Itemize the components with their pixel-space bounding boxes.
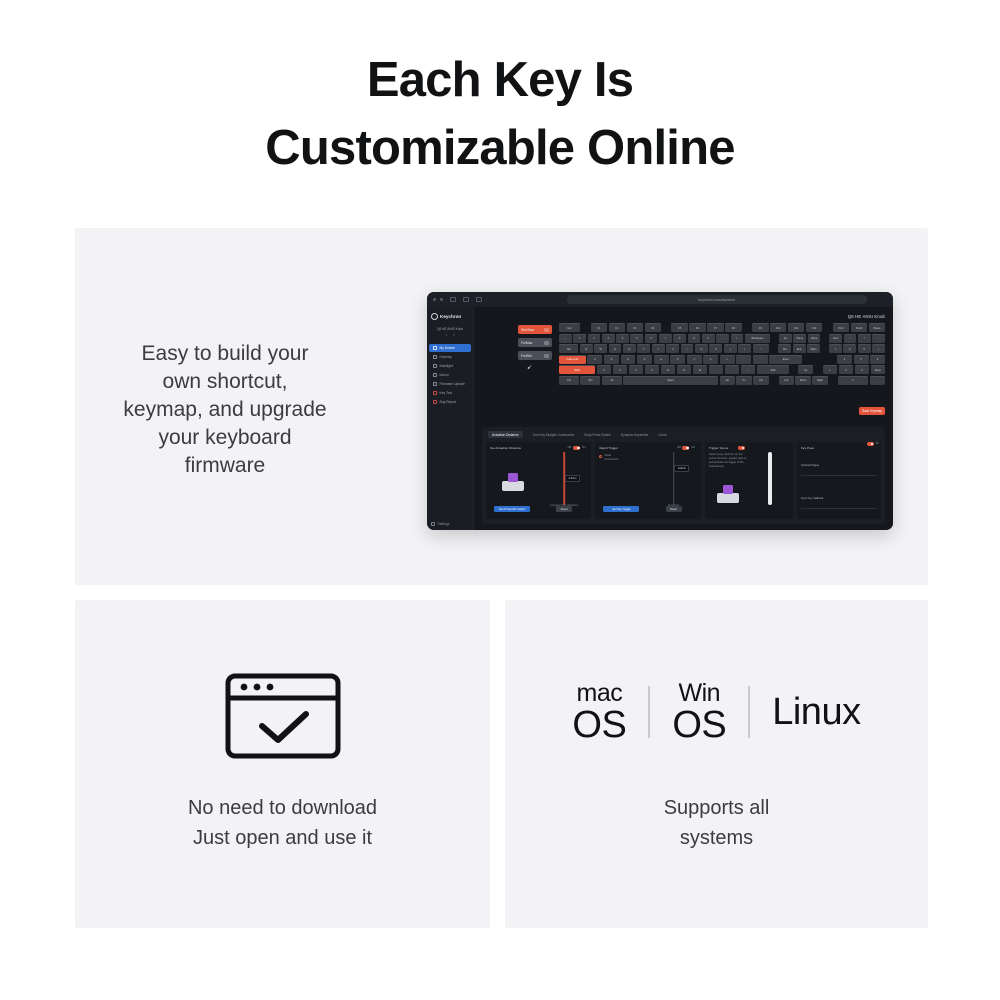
- key[interactable]: Home: [793, 334, 806, 343]
- app-sidebar: Keychron Q6 HE ANSI Knob 1 2 My Device K…: [427, 307, 474, 530]
- sidebar-item-label: My Device: [440, 346, 455, 350]
- gear-icon: [431, 522, 435, 526]
- no-download-caption: No need to download Just open and use it: [75, 793, 490, 853]
- rapid-trigger-slider-area: Off On 0.2mm Sensitivity Reset: [650, 446, 697, 515]
- key[interactable]: G: [654, 355, 669, 364]
- rapid-trigger-reset-button[interactable]: Reset: [666, 506, 682, 512]
- sidebar-item-keymap[interactable]: Keymap: [429, 353, 471, 361]
- keyboard-row: Tab Q W E R T Y U I O P [ ] \ Del End: [559, 344, 885, 353]
- supports-all-systems-caption: Supports all systems: [505, 793, 928, 853]
- toggle-off-label: Off: [568, 446, 571, 449]
- key[interactable]: 0: [838, 376, 869, 385]
- key[interactable]: S: [604, 355, 619, 364]
- key[interactable]: 6: [645, 334, 658, 343]
- key[interactable]: 7: [659, 334, 672, 343]
- key[interactable]: F: [637, 355, 652, 364]
- key[interactable]: V: [645, 365, 659, 374]
- os-logo-winos: Win OS: [672, 681, 726, 744]
- key[interactable]: ~: [559, 334, 572, 343]
- key[interactable]: Tab: [559, 344, 578, 353]
- key[interactable]: L: [720, 355, 735, 364]
- key[interactable]: U: [666, 344, 679, 353]
- cursor-pointer-icon: ➹: [527, 364, 552, 371]
- key-spacer: [820, 355, 827, 364]
- app-main: Q6 HE ANSI Knob Win/Mac Fn/Mac Fn/Win ➹ …: [474, 307, 893, 530]
- os-logo-winos-suffix: OS: [672, 706, 726, 744]
- toggle-off-label: Off: [677, 446, 680, 449]
- key[interactable]: Backspace: [745, 334, 770, 343]
- macro-icon: [433, 373, 437, 377]
- browser-titlebar: keychron.com/launcher: [427, 292, 893, 307]
- layer-button-label: Win/Mac: [521, 328, 534, 332]
- os-logo-macos-suffix: OS: [572, 706, 626, 744]
- key[interactable]: T: [637, 344, 650, 353]
- sidebar-nav: My Device Keymap Backlight Macro Firmwar…: [427, 344, 473, 406]
- key[interactable]: Ctrl: [559, 376, 579, 385]
- key[interactable]: K: [703, 355, 718, 364]
- key[interactable]: 5: [854, 355, 869, 364]
- sidebar-item-key-test[interactable]: Key Test: [429, 389, 471, 397]
- launcher-description-line-3: keymap, and upgrade: [90, 396, 360, 424]
- key[interactable]: Fn: [736, 376, 751, 385]
- sidebar-item-label: Bug Report: [440, 400, 457, 404]
- key[interactable]: Pause: [869, 323, 885, 332]
- key[interactable]: 3: [855, 365, 869, 374]
- os-divider: [748, 686, 750, 738]
- supports-caption-line-1: Supports all: [505, 793, 928, 823]
- no-download-caption-line-2: Just open and use it: [75, 823, 490, 853]
- set-all-specific-switch-button[interactable]: Set All Specific Switch: [494, 506, 530, 512]
- switch-stem: [508, 473, 518, 482]
- sidebar-item-label: Key Test: [440, 391, 453, 395]
- window-dot-icon: [433, 298, 436, 301]
- key[interactable]: Ins: [779, 334, 792, 343]
- key[interactable]: =: [731, 334, 744, 343]
- keyboard-row: Caps Lock A S D F G H J K L ; ' Enter: [559, 355, 885, 364]
- switch-render-image: [717, 485, 739, 503]
- key-shift-left[interactable]: Shift: [559, 365, 595, 374]
- sidebar-item-settings[interactable]: Settings: [429, 522, 449, 526]
- key[interactable]: F8: [725, 323, 741, 332]
- key[interactable]: Print: [833, 323, 849, 332]
- actuation-toggle[interactable]: Off On: [568, 446, 586, 450]
- key-arrow-left[interactable]: Left: [779, 376, 794, 385]
- keyboard-row: Esc F1 F2 F3 F4 F5 F6 F7 F8 F9 F10 F11 F…: [559, 323, 885, 332]
- key[interactable]: *: [858, 334, 871, 343]
- layer-button-label: Fn/Win: [521, 354, 532, 358]
- settings-panel: Actuation Distance One Key Multiple Comm…: [482, 427, 885, 524]
- key[interactable]: ': [753, 355, 768, 364]
- key[interactable]: 2: [588, 334, 601, 343]
- key[interactable]: F3: [627, 323, 643, 332]
- sidebar-item-label: Macro: [440, 373, 449, 377]
- key[interactable]: \: [753, 344, 770, 353]
- key-arrow-down[interactable]: Down: [795, 376, 810, 385]
- address-bar[interactable]: keychron.com/launcher: [567, 295, 867, 304]
- layer-button-win-mac[interactable]: Win/Mac: [518, 325, 552, 334]
- sidebar-item-macro[interactable]: Macro: [429, 371, 471, 379]
- connected-device-indicators: 1 2: [432, 333, 468, 338]
- feature-card-supports-all-systems: [505, 600, 928, 928]
- key[interactable]: -: [716, 334, 729, 343]
- key-enter[interactable]: Enter: [769, 355, 802, 364]
- actuation-reset-button[interactable]: Reset: [556, 506, 572, 512]
- key[interactable]: 8: [673, 334, 686, 343]
- key-spacer: [771, 344, 777, 353]
- trigger-scene-description: Select a key and turn on the correct fun…: [709, 453, 747, 469]
- key[interactable]: F1: [591, 323, 607, 332]
- keychron-logo: Keychron: [427, 307, 473, 320]
- key-space[interactable]: Space: [623, 376, 718, 385]
- key-test-icon: [433, 391, 437, 395]
- sensitivity-slider-track[interactable]: [673, 452, 675, 505]
- key[interactable]: R: [623, 344, 636, 353]
- key[interactable]: /: [844, 334, 857, 343]
- key[interactable]: A: [587, 355, 602, 364]
- key[interactable]: E: [609, 344, 622, 353]
- launcher-description-line-4: your keyboard: [90, 424, 360, 452]
- sidebar-item-backlight[interactable]: Backlight: [429, 362, 471, 370]
- key[interactable]: F4: [645, 323, 661, 332]
- device-indicator-left: 1: [445, 333, 447, 338]
- key-spacer: [790, 365, 797, 374]
- key[interactable]: Alt: [602, 376, 622, 385]
- os-divider: [648, 686, 650, 738]
- tab-actuation-distance[interactable]: Actuation Distance: [488, 431, 523, 438]
- keyboard-layout: Esc F1 F2 F3 F4 F5 F6 F7 F8 F9 F10 F11 F…: [559, 323, 885, 387]
- layer-button-fn-mac[interactable]: Fn/Mac: [518, 338, 552, 347]
- launcher-description-line-1: Easy to build your: [90, 340, 360, 368]
- toggle-on-label: On: [876, 442, 879, 445]
- key[interactable]: D: [621, 355, 636, 364]
- address-bar-text: keychron.com/launcher: [698, 298, 735, 302]
- save-keymap-button[interactable]: Save Keymap: [859, 407, 885, 415]
- key-pace-toggle[interactable]: On: [867, 442, 879, 446]
- sidebar-item-firmware-update[interactable]: Firmware Update: [429, 380, 471, 388]
- panel-content: Set Actuation Distance Set All Specific …: [486, 442, 881, 519]
- key-spacer: [829, 355, 836, 364]
- key[interactable]: 0: [702, 334, 715, 343]
- key-spacer: [822, 344, 828, 353]
- key-spacer: [812, 355, 819, 364]
- os-logo-macos: mac OS: [572, 681, 626, 744]
- key[interactable]: 4: [616, 334, 629, 343]
- key-numpad-enter[interactable]: Enter: [871, 365, 885, 374]
- browser-tab-icon: [450, 297, 456, 302]
- trigger-scene-slider-area: [751, 446, 789, 515]
- actuation-switch-preview: Set Actuation Distance Set All Specific …: [490, 446, 537, 515]
- sidebar-item-label: Settings: [438, 522, 450, 526]
- panel-card-actuation-distance: Set Actuation Distance Set All Specific …: [486, 442, 591, 519]
- key[interactable]: [: [724, 344, 737, 353]
- key[interactable]: J: [687, 355, 702, 364]
- key[interactable]: B: [661, 365, 675, 374]
- key[interactable]: O: [695, 344, 708, 353]
- key[interactable]: F9: [752, 323, 768, 332]
- key[interactable]: Z: [597, 365, 611, 374]
- page-root: Each Key Is Customizable Online Easy to …: [0, 0, 1000, 1000]
- key[interactable]: Q: [580, 344, 593, 353]
- key[interactable]: Alt: [720, 376, 735, 385]
- launcher-description-line-5: firmware: [90, 452, 360, 480]
- os-logo-winos-prefix: Win: [679, 681, 721, 706]
- key-spacer: [822, 334, 828, 343]
- key[interactable]: N: [677, 365, 691, 374]
- tab-dynamic-keystroke[interactable]: Dynamic Keystroke: [621, 433, 648, 437]
- browser-tab-icon: [476, 297, 482, 302]
- key[interactable]: PgUp: [808, 334, 821, 343]
- rapid-trigger-mode-sub: Continuous: [604, 458, 646, 462]
- key[interactable]: I: [681, 344, 694, 353]
- trigger-scene-slider-track[interactable]: [768, 452, 772, 505]
- key[interactable]: 7: [829, 344, 842, 353]
- key[interactable]: X: [613, 365, 627, 374]
- key[interactable]: 3: [602, 334, 615, 343]
- panel-card-title: Set Actuation Distance: [490, 446, 537, 450]
- key[interactable]: 4: [837, 355, 852, 364]
- key[interactable]: F5: [671, 323, 687, 332]
- field-label: Input Key Callback: [801, 497, 823, 500]
- sidebar-item-bug-report[interactable]: Bug Report: [429, 398, 471, 406]
- key[interactable]: F11: [788, 323, 804, 332]
- key[interactable]: Del: [778, 344, 791, 353]
- key-arrow-right[interactable]: Right: [812, 376, 827, 385]
- radio-icon[interactable]: [599, 455, 602, 458]
- sidebar-item-label: Firmware Update: [440, 382, 465, 386]
- page-title-line-1: Each Key Is: [0, 46, 1000, 114]
- key[interactable]: Ctrl: [753, 376, 768, 385]
- sidebar-item-my-device[interactable]: My Device: [429, 344, 471, 352]
- layer-button-label: Fn/Mac: [521, 341, 532, 345]
- key-spacer: [663, 323, 670, 332]
- switch-stem: [723, 485, 733, 494]
- firmware-icon: [433, 382, 437, 386]
- toggle-on-label: On: [691, 446, 694, 449]
- toggle-switch[interactable]: [573, 446, 580, 450]
- key[interactable]: Esc: [559, 323, 580, 332]
- keyboard-row: ~ 1 2 3 4 5 6 7 8 9 0 - = Backspace Ins: [559, 334, 885, 343]
- key-caps-lock[interactable]: Caps Lock: [559, 355, 586, 364]
- key[interactable]: P: [709, 344, 722, 353]
- key-spacer: [814, 365, 821, 374]
- bug-icon: [433, 400, 437, 404]
- key[interactable]: Num: [829, 334, 842, 343]
- key[interactable]: 1: [573, 334, 586, 343]
- backlight-icon: [433, 364, 437, 368]
- key[interactable]: ]: [738, 344, 751, 353]
- key[interactable]: F7: [707, 323, 723, 332]
- device-model-label: Q6 HE ANSI Knob: [848, 314, 885, 319]
- key[interactable]: .: [870, 376, 885, 385]
- key[interactable]: PgDn: [807, 344, 820, 353]
- key-shift-right[interactable]: Shift: [757, 365, 789, 374]
- keymap-icon: [433, 355, 437, 359]
- panel-tab-list: Actuation Distance One Key Multiple Comm…: [486, 431, 881, 442]
- device-icon: [433, 346, 437, 350]
- launcher-app-screenshot: keychron.com/launcher Keychron Q6 HE ANS…: [427, 292, 893, 530]
- key-spacer: [582, 323, 589, 332]
- key-spacer: [829, 376, 836, 385]
- connected-device-chip: Q6 HE ANSI Knob 1 2: [432, 327, 468, 338]
- launcher-description: Easy to build your own shortcut, keymap,…: [90, 340, 360, 480]
- key[interactable]: 9: [688, 334, 701, 343]
- key-spacer: [743, 323, 750, 332]
- switch-housing: [502, 481, 524, 491]
- key-spacer: [772, 334, 778, 343]
- key-spacer: [770, 376, 777, 385]
- set-key-toggle-button[interactable]: Set Key Toggle: [603, 506, 639, 512]
- actuation-value-chip: 2.0mm: [565, 475, 580, 482]
- feature-card-no-download: [75, 600, 490, 928]
- keychron-mark-icon: [431, 313, 438, 320]
- key[interactable]: F2: [609, 323, 625, 332]
- key[interactable]: 9: [858, 344, 871, 353]
- sensitivity-value-chip: 0.2mm: [674, 465, 689, 472]
- key[interactable]: 8: [843, 344, 856, 353]
- layer-selector: Win/Mac Fn/Mac Fn/Win ➹: [518, 325, 552, 371]
- keychron-wordmark: Keychron: [440, 314, 461, 319]
- supports-caption-line-2: systems: [505, 823, 928, 853]
- tab-curve[interactable]: Curve: [658, 433, 667, 437]
- key[interactable]: ;: [736, 355, 751, 364]
- layer-button-fn-win[interactable]: Fn/Win: [518, 351, 552, 360]
- key[interactable]: H: [670, 355, 685, 364]
- key-arrow-up[interactable]: Up: [798, 365, 812, 374]
- input-key-callback-field[interactable]: Input Key Callback: [801, 486, 877, 509]
- key[interactable]: /: [741, 365, 755, 374]
- switch-render-image: [502, 473, 524, 491]
- os-logo-row: mac OS Win OS Linux: [505, 672, 928, 752]
- key-spacer: [804, 355, 811, 364]
- keyboard-row: Shift Z X C V B N M , . / Shift Up 1 2: [559, 365, 885, 374]
- key[interactable]: ,: [709, 365, 723, 374]
- key[interactable]: F6: [689, 323, 705, 332]
- trigger-scene-toggle[interactable]: [738, 446, 745, 450]
- actuation-slider-area: Off On 2.0mm Actuation Point Distance Re…: [541, 446, 588, 515]
- key[interactable]: W: [594, 344, 607, 353]
- toggle-switch[interactable]: [867, 442, 874, 446]
- key[interactable]: +: [872, 344, 885, 353]
- page-title: Each Key Is Customizable Online: [0, 46, 1000, 182]
- browser-window-check-icon: [224, 672, 342, 760]
- sidebar-item-label: Backlight: [440, 364, 453, 368]
- device-indicator-right: 2: [453, 333, 455, 338]
- os-logo-macos-prefix: mac: [577, 681, 623, 706]
- key[interactable]: 6: [870, 355, 885, 364]
- os-logo-linux: Linux: [772, 693, 860, 731]
- key[interactable]: -: [872, 334, 885, 343]
- toggle-switch[interactable]: [682, 446, 689, 450]
- panel-card-title: Key Pace: [801, 446, 877, 450]
- trigger-scene-info: Trigger Scene Select a key and turn on t…: [709, 446, 747, 515]
- field-label: Quicked Pages: [801, 464, 819, 467]
- switch-housing: [717, 493, 739, 503]
- toggle-on-label: On: [582, 446, 585, 449]
- key[interactable]: Y: [652, 344, 665, 353]
- keyboard-row: Ctrl Win Alt Space Alt Fn Ctrl Left Down…: [559, 376, 885, 385]
- browser-tab-icon: [463, 297, 469, 302]
- connected-device-name: Q6 HE ANSI Knob: [432, 327, 468, 332]
- key[interactable]: F10: [770, 323, 786, 332]
- key[interactable]: Win: [580, 376, 600, 385]
- sidebar-item-label: Keymap: [440, 355, 452, 359]
- rapid-trigger-options: Rapid Trigger Mode Continuous Set Key To…: [599, 446, 646, 515]
- panel-card-trigger-scene: Trigger Scene Select a key and turn on t…: [705, 442, 793, 519]
- key[interactable]: F12: [806, 323, 822, 332]
- key[interactable]: 1: [823, 365, 837, 374]
- key[interactable]: .: [725, 365, 739, 374]
- key-spacer: [824, 323, 831, 332]
- key[interactable]: End: [793, 344, 806, 353]
- page-title-line-2: Customizable Online: [0, 114, 1000, 182]
- key[interactable]: 2: [839, 365, 853, 374]
- tab-snap-press-switch[interactable]: Snap Press Switch: [584, 433, 611, 437]
- no-download-caption-line-1: No need to download: [75, 793, 490, 823]
- launcher-description-line-2: own shortcut,: [90, 368, 360, 396]
- key[interactable]: M: [693, 365, 707, 374]
- window-dot-icon: [440, 298, 443, 301]
- toggle-switch[interactable]: [738, 446, 745, 450]
- panel-card-title: Rapid Trigger: [599, 446, 646, 450]
- quicked-pages-field[interactable]: Quicked Pages: [801, 453, 877, 476]
- panel-card-key-pace: Key Pace On Quicked Pages Input Key Call…: [797, 442, 881, 519]
- tab-one-key-multiple-commands[interactable]: One Key Multiple Commands: [533, 433, 574, 437]
- key[interactable]: 5: [630, 334, 643, 343]
- rapid-trigger-toggle[interactable]: Off On: [677, 446, 695, 450]
- key[interactable]: C: [629, 365, 643, 374]
- panel-card-rapid-trigger: Rapid Trigger Mode Continuous Set Key To…: [595, 442, 700, 519]
- key[interactable]: Scroll: [851, 323, 867, 332]
